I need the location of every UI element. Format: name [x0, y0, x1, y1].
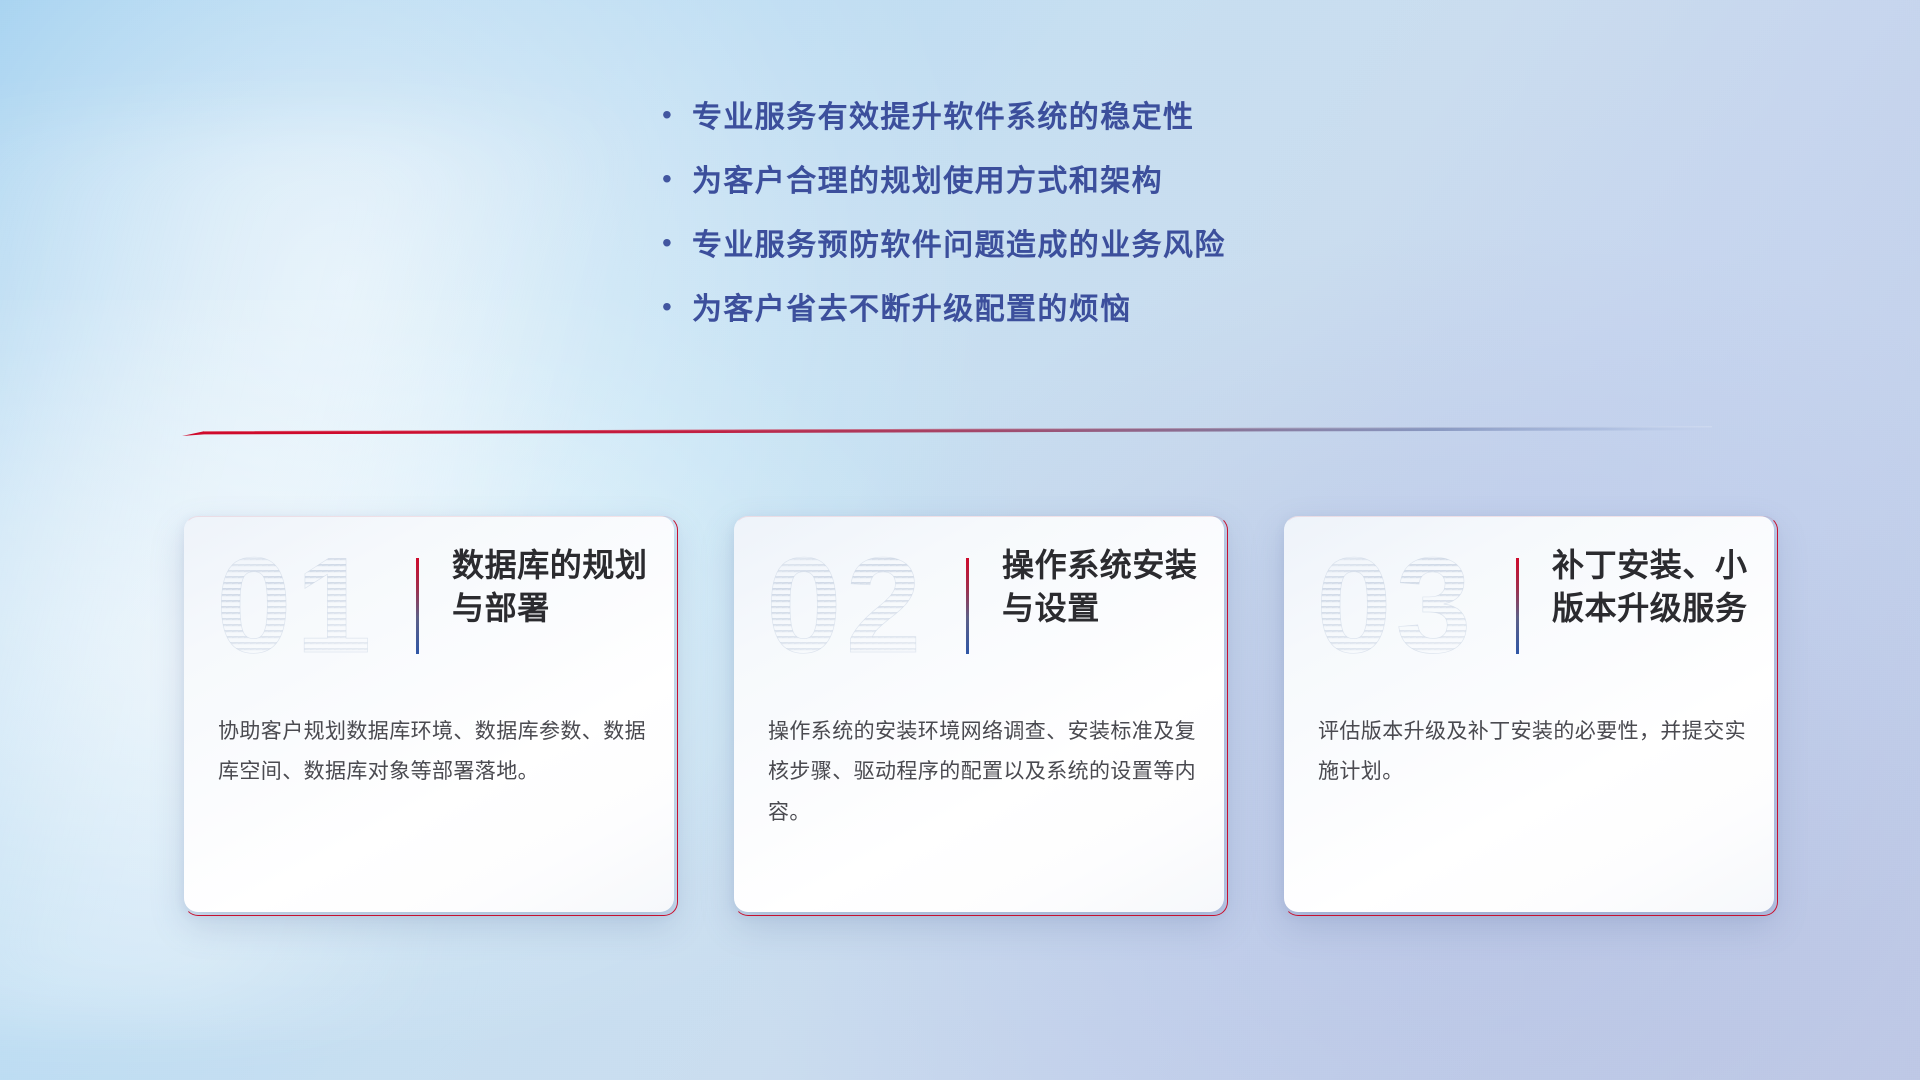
list-item: • 专业服务预防软件问题造成的业务风险 [662, 220, 1226, 284]
list-item: • 为客户省去不断升级配置的烦恼 [662, 284, 1226, 348]
card-number-graphic: 02 02 [764, 540, 954, 672]
bullet-dot-icon: • [662, 229, 692, 257]
card-header: 02 02 操作系统安装与设置 [734, 516, 1224, 698]
card-description: 协助客户规划数据库环境、数据库参数、数据库空间、数据库对象等部署落地。 [218, 712, 646, 793]
card-title-accent-bar [1516, 558, 1519, 654]
card-header: 01 01 数据库的规划与部署 [184, 516, 674, 698]
bullet-text: 为客户省去不断升级配置的烦恼 [692, 284, 1132, 328]
service-card[interactable]: 02 02 操作系统安装与设置 操作系统的安装环境网络调查、安装标准及复核步骤、… [734, 516, 1224, 912]
service-card[interactable]: 03 03 补丁安装、小版本升级服务 评估版本升级及补丁安装的必要性，并提交实施… [1284, 516, 1774, 912]
bullet-text: 专业服务预防软件问题造成的业务风险 [692, 220, 1226, 264]
bullet-text: 为客户合理的规划使用方式和架构 [692, 156, 1163, 200]
card-title: 补丁安装、小版本升级服务 [1552, 544, 1754, 630]
card-title-accent-bar [966, 558, 969, 654]
svg-text:02: 02 [766, 540, 925, 672]
list-item: • 专业服务有效提升软件系统的稳定性 [662, 92, 1226, 156]
card-number-graphic: 03 03 [1314, 540, 1504, 672]
card-title-accent-bar [416, 558, 419, 654]
svg-text:01: 01 [216, 540, 375, 672]
bullet-dot-icon: • [662, 101, 692, 129]
bullet-dot-icon: • [662, 293, 692, 321]
card-title: 数据库的规划与部署 [452, 544, 654, 630]
divider-line-icon [182, 424, 1712, 440]
bullet-text: 专业服务有效提升软件系统的稳定性 [692, 92, 1194, 136]
section-divider [182, 424, 1712, 440]
svg-text:03: 03 [1316, 540, 1475, 672]
card-description: 评估版本升级及补丁安装的必要性，并提交实施计划。 [1318, 712, 1746, 793]
bullet-dot-icon: • [662, 165, 692, 193]
card-header: 03 03 补丁安装、小版本升级服务 [1284, 516, 1774, 698]
service-card-row: 01 01 数据库的规划与部署 协助客户规划数据库环境、数据库参数、数据库空间、… [184, 516, 1774, 912]
list-item: • 为客户合理的规划使用方式和架构 [662, 156, 1226, 220]
card-number-graphic: 01 01 [214, 540, 404, 672]
card-description: 操作系统的安装环境网络调查、安装标准及复核步骤、驱动程序的配置以及系统的设置等内… [768, 712, 1196, 833]
card-title: 操作系统安装与设置 [1002, 544, 1204, 630]
service-card[interactable]: 01 01 数据库的规划与部署 协助客户规划数据库环境、数据库参数、数据库空间、… [184, 516, 674, 912]
benefits-bullet-list: • 专业服务有效提升软件系统的稳定性 • 为客户合理的规划使用方式和架构 • 专… [662, 92, 1226, 348]
